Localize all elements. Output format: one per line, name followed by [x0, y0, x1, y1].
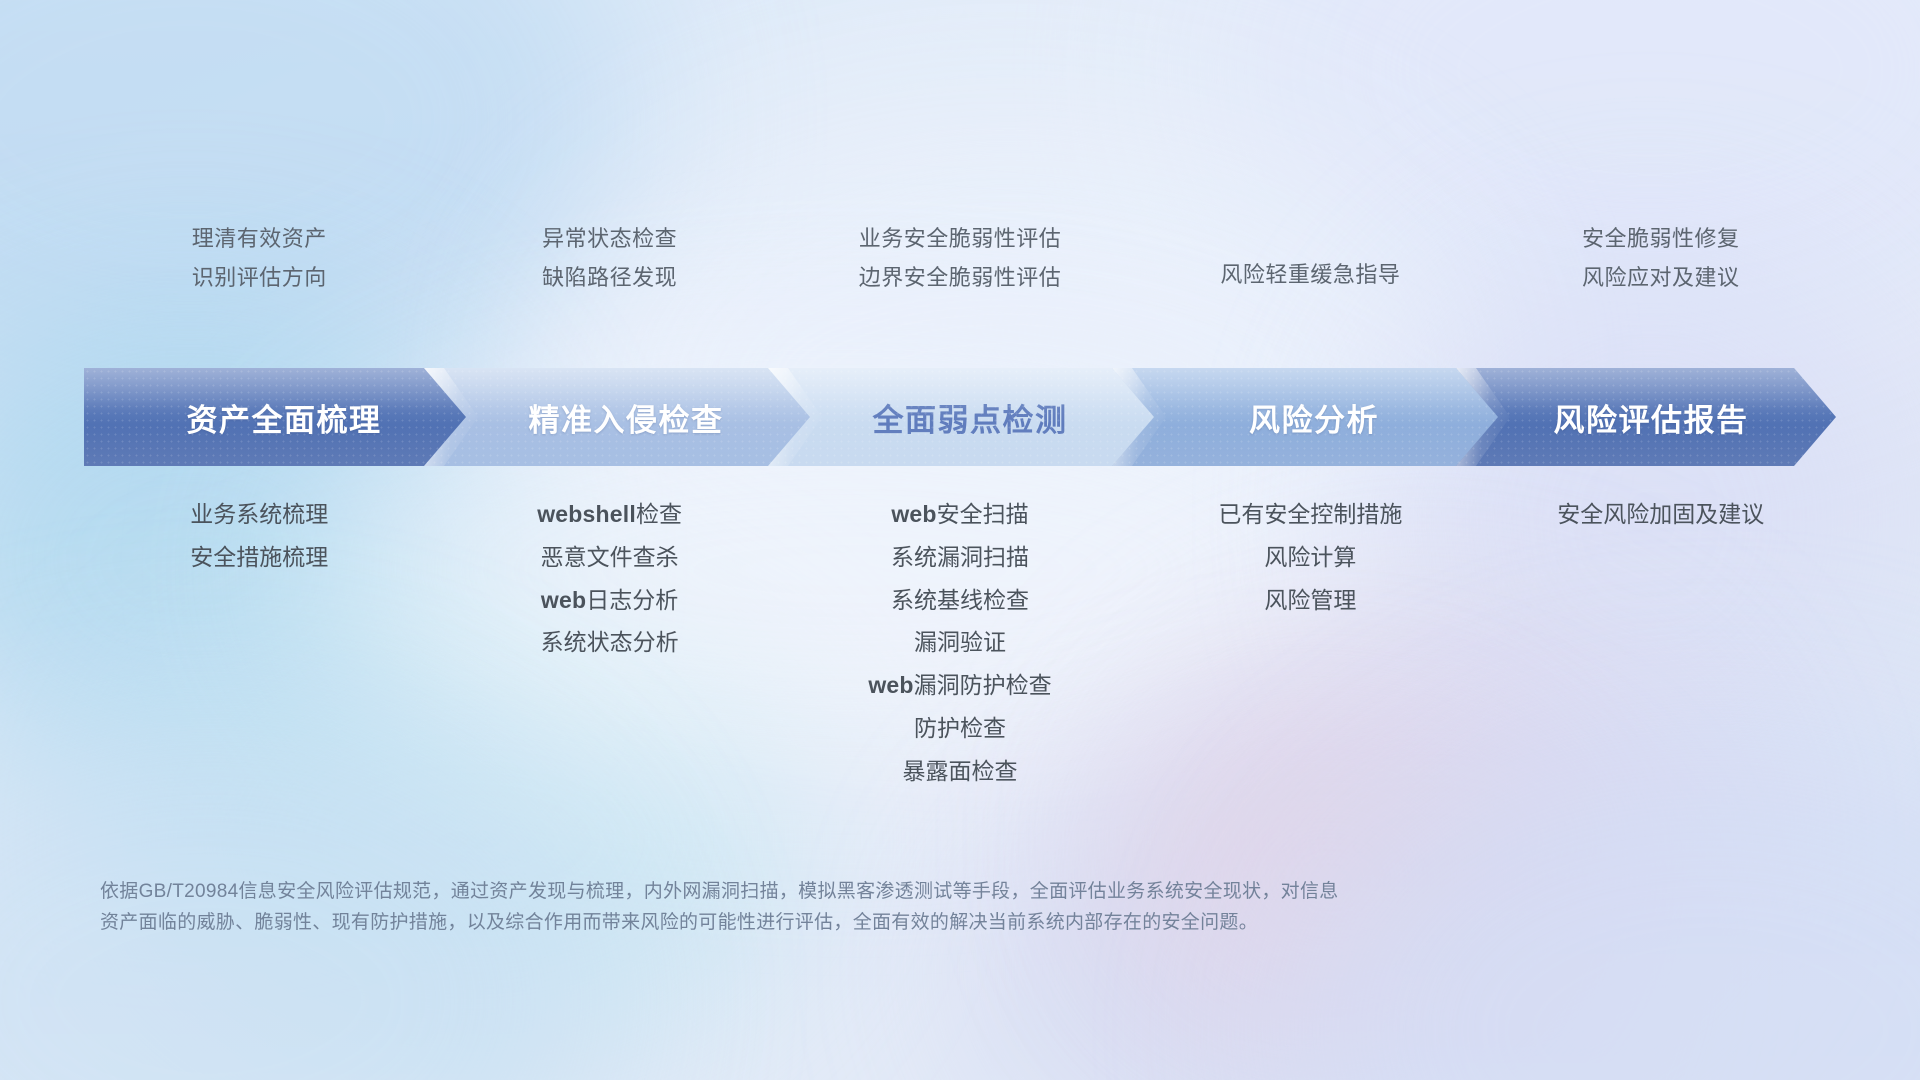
chevron-stage-risk-analysis[interactable]: 风险分析 — [1112, 368, 1506, 466]
items-risk-report: 安全风险加固及建议 — [1486, 502, 1836, 784]
list-item: 系统状态分析 — [541, 630, 679, 656]
list-item: 系统漏洞扫描 — [891, 545, 1029, 571]
top-note: 缺陷路径发现 — [542, 265, 677, 290]
list-item: 系统基线检查 — [891, 588, 1029, 614]
chevron-stage-asset-inventory[interactable]: 资产全面梳理 — [84, 368, 474, 466]
top-notes-asset-inventory: 理清有效资产 识别评估方向 — [84, 226, 434, 291]
chevron-label: 风险评估报告 — [1544, 395, 1749, 440]
items-intrusion-check: webshell检查 恶意文件查杀 web日志分析 系统状态分析 — [434, 502, 784, 784]
top-note: 安全脆弱性修复 — [1582, 226, 1740, 251]
footer-description: 依据GB/T20984信息安全风险评估规范，通过资产发现与梳理，内外网漏洞扫描，… — [100, 876, 1620, 939]
items-weakness-detection: web安全扫描 系统漏洞扫描 系统基线检查 漏洞验证 web漏洞防护检查 防护检… — [785, 502, 1135, 784]
list-item: web日志分析 — [541, 588, 678, 614]
top-notes-weakness-detection: 业务安全脆弱性评估 边界安全脆弱性评估 — [785, 226, 1135, 291]
list-item: web漏洞防护检查 — [868, 673, 1051, 699]
chevron-label: 全面弱点检测 — [863, 395, 1068, 440]
list-item: 安全风险加固及建议 — [1557, 502, 1764, 528]
top-note: 风险应对及建议 — [1582, 265, 1740, 290]
chevron-label: 精准入侵检查 — [519, 395, 724, 440]
list-item: 已有安全控制措施 — [1218, 502, 1402, 528]
list-item: 风险管理 — [1264, 588, 1356, 614]
top-note: 业务安全脆弱性评估 — [859, 226, 1062, 251]
top-note: 风险轻重缓急指导 — [1220, 262, 1400, 287]
top-notes-risk-analysis: 风险轻重缓急指导 — [1135, 226, 1485, 291]
stage-top-notes-row: 理清有效资产 识别评估方向 异常状态检查 缺陷路径发现 业务安全脆弱性评估 边界… — [84, 226, 1836, 291]
list-item: 防护检查 — [914, 716, 1006, 742]
chevron-stage-intrusion-check[interactable]: 精准入侵检查 — [424, 368, 818, 466]
list-item: 漏洞验证 — [914, 630, 1006, 656]
slide-canvas: 理清有效资产 识别评估方向 异常状态检查 缺陷路径发现 业务安全脆弱性评估 边界… — [0, 0, 1920, 1080]
list-item: 风险计算 — [1264, 545, 1356, 571]
list-item: 业务系统梳理 — [190, 502, 328, 528]
items-asset-inventory: 业务系统梳理 安全措施梳理 — [84, 502, 434, 784]
list-item: webshell检查 — [537, 502, 682, 528]
list-item: 恶意文件查杀 — [541, 545, 679, 571]
top-note: 边界安全脆弱性评估 — [859, 265, 1062, 290]
top-notes-intrusion-check: 异常状态检查 缺陷路径发现 — [434, 226, 784, 291]
footer-line: 依据GB/T20984信息安全风险评估规范，通过资产发现与梳理，内外网漏洞扫描，… — [100, 876, 1620, 907]
list-item: 安全措施梳理 — [190, 545, 328, 571]
process-chevron-banner: 资产全面梳理 精准入侵检查 全面弱点检测 风险分析 — [84, 368, 1836, 466]
chevron-label: 风险分析 — [1239, 395, 1379, 440]
stage-items-row: 业务系统梳理 安全措施梳理 webshell检查 恶意文件查杀 web日志分析 … — [84, 502, 1836, 784]
top-note: 理清有效资产 — [192, 226, 327, 251]
list-item: 暴露面检查 — [902, 759, 1017, 785]
chevron-stage-risk-report[interactable]: 风险评估报告 — [1456, 368, 1836, 466]
chevron-stage-weakness-detection[interactable]: 全面弱点检测 — [768, 368, 1162, 466]
items-risk-analysis: 已有安全控制措施 风险计算 风险管理 — [1135, 502, 1485, 784]
footer-line: 资产面临的威胁、脆弱性、现有防护措施，以及综合作用而带来风险的可能性进行评估，全… — [100, 907, 1620, 938]
top-notes-risk-report: 安全脆弱性修复 风险应对及建议 — [1486, 226, 1836, 291]
chevron-label: 资产全面梳理 — [177, 395, 382, 440]
top-note: 异常状态检查 — [542, 226, 677, 251]
top-note: 识别评估方向 — [192, 265, 327, 290]
list-item: web安全扫描 — [891, 502, 1028, 528]
